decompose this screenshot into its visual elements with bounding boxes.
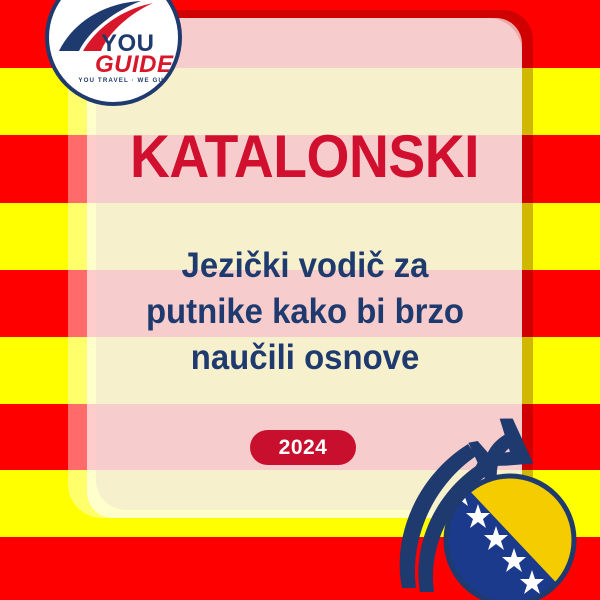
subtitle-line-3: naučili osnove — [112, 335, 497, 381]
logo-tagline: YOU TRAVEL · WE GUIDE — [78, 77, 178, 84]
brand-logo-badge[interactable]: YOU GUIDE YOU TRAVEL · WE GUIDE — [45, 0, 182, 106]
year-badge: 2024 — [250, 430, 356, 465]
bosnia-flag-circle — [432, 462, 582, 600]
language-guide-poster: YOU GUIDE YOU TRAVEL · WE GUIDE KATALONS… — [0, 0, 600, 600]
subtitle-line-2: putnike kako bi brzo — [112, 289, 497, 335]
logo-word-guide: GUIDE — [95, 51, 174, 79]
page-title: KATALONSKI — [104, 126, 504, 188]
brand-logo-inner: YOU GUIDE YOU TRAVEL · WE GUIDE — [49, 0, 178, 102]
poster-subtitle: Jezički vodič za putnike kako bi brzo na… — [100, 243, 510, 381]
travel-emblem — [390, 400, 590, 600]
subtitle-line-1: Jezički vodič za — [112, 243, 497, 289]
